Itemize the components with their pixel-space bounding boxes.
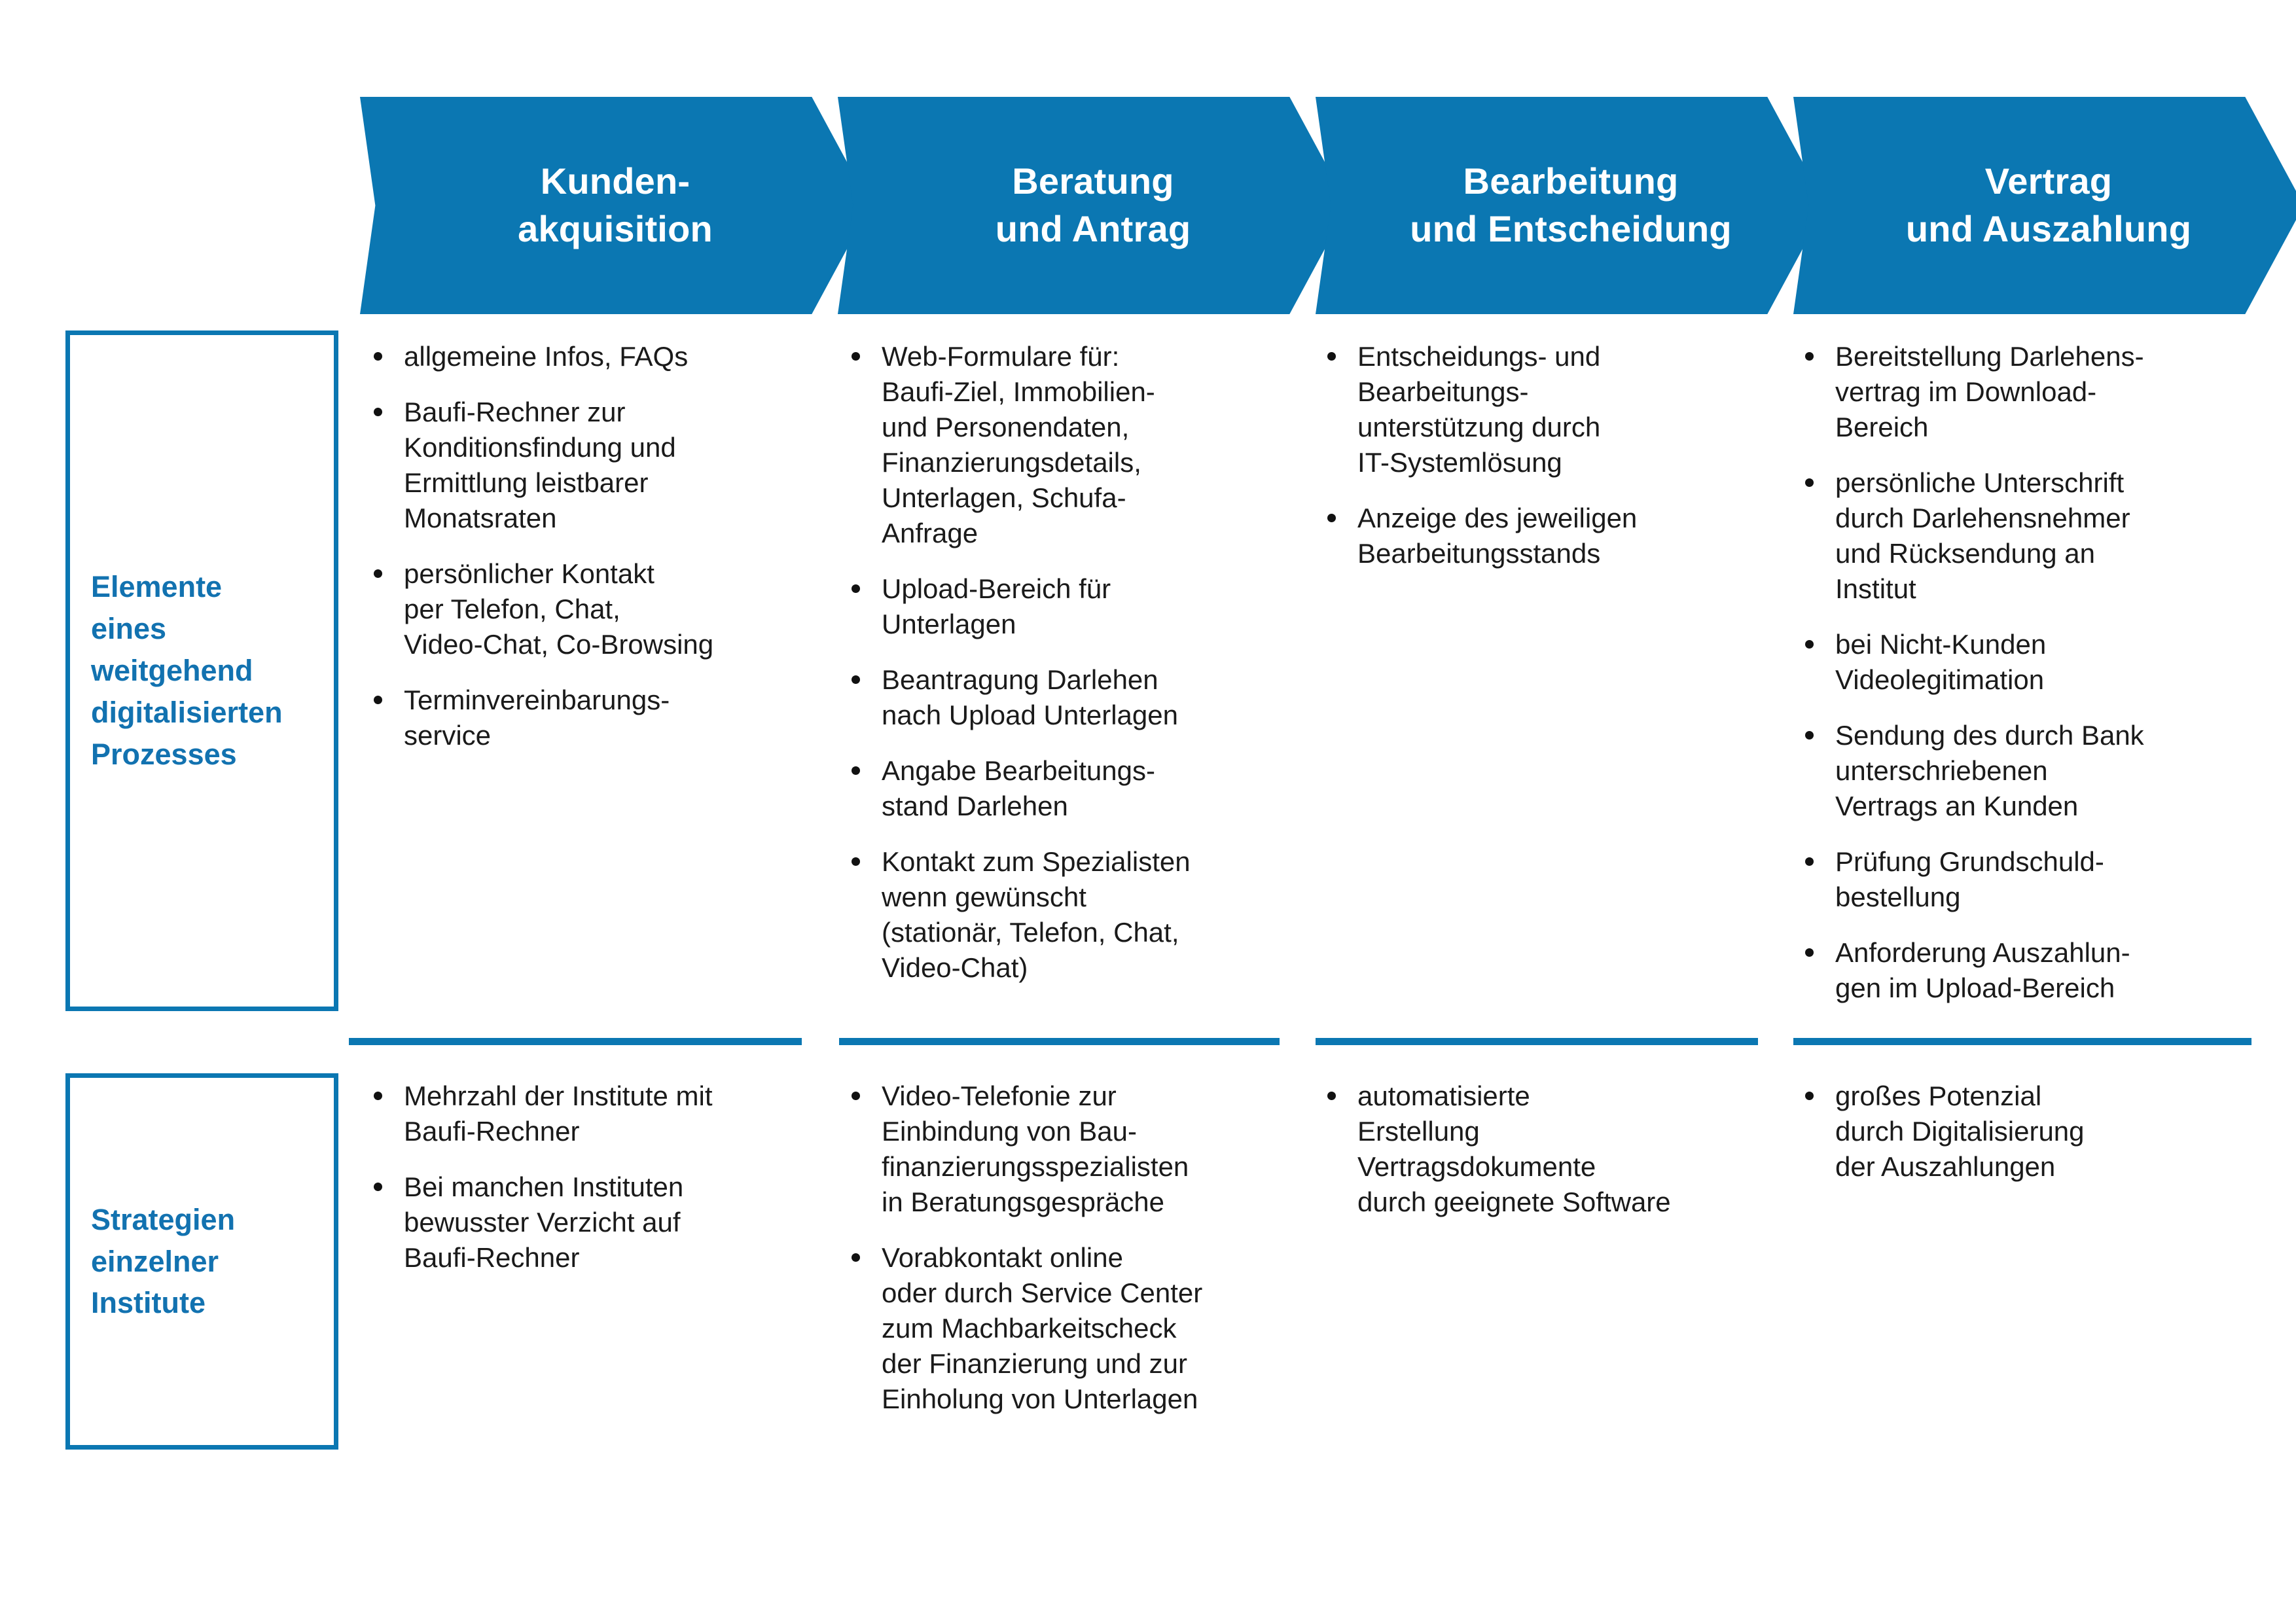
phase-chevron-kundenakquisition[interactable]: Kunden- akquisition — [360, 97, 870, 314]
row-label-box-strategien: Strategien einzelner Institute — [65, 1073, 338, 1450]
list-item: Sendung des durch Bank unterschriebenen … — [1795, 718, 2253, 824]
bullet-dot-icon — [1805, 640, 1814, 649]
bullet-dot-icon — [374, 408, 382, 416]
list-item-text: Anzeige des jeweiligen Bearbeitungsstand… — [1357, 503, 1637, 569]
bullet-dot-icon — [852, 675, 860, 684]
list-item-text: Prüfung Grundschuld- bestellung — [1835, 846, 2104, 912]
cell-strategien-kundenakquisition: Mehrzahl der Institute mit Baufi-Rechner… — [363, 1079, 803, 1275]
phase-chevron-label: Beratung und Antrag — [986, 158, 1200, 253]
list-item: persönliche Unterschrift durch Darlehens… — [1795, 465, 2253, 607]
column-divider-rule — [1793, 1038, 2251, 1045]
list-item-text: Anforderung Auszahlun- gen im Upload-Ber… — [1835, 937, 2130, 1003]
bullet-dot-icon — [1805, 1092, 1814, 1100]
list-item: Beantragung Darlehen nach Upload Unterla… — [841, 662, 1281, 733]
list-item-text: automatisierte Erstellung Vertragsdokume… — [1357, 1080, 1671, 1217]
bullet-dot-icon — [852, 1092, 860, 1100]
bullet-list: automatisierte Erstellung Vertragsdokume… — [1317, 1079, 1759, 1220]
list-item: Entscheidungs- und Bearbeitungs- unterst… — [1317, 339, 1759, 480]
bullet-list: allgemeine Infos, FAQs Baufi-Rechner zur… — [363, 339, 803, 753]
bullet-list: Entscheidungs- und Bearbeitungs- unterst… — [1317, 339, 1759, 571]
bullet-dot-icon — [1805, 731, 1814, 740]
list-item-text: persönlicher Kontakt per Telefon, Chat, … — [404, 558, 713, 660]
list-item: Angabe Bearbeitungs- stand Darlehen — [841, 753, 1281, 824]
bullet-list: Video-Telefonie zur Einbindung von Bau- … — [841, 1079, 1281, 1417]
list-item-text: allgemeine Infos, FAQs — [404, 341, 688, 372]
list-item: bei Nicht-Kunden Videolegitimation — [1795, 627, 2253, 698]
list-item-text: Mehrzahl der Institute mit Baufi-Rechner — [404, 1080, 713, 1147]
list-item: Terminvereinbarungs- service — [363, 683, 803, 753]
list-item-text: Entscheidungs- und Bearbeitungs- unterst… — [1357, 341, 1600, 478]
list-item-text: persönliche Unterschrift durch Darlehens… — [1835, 467, 2130, 604]
bullet-dot-icon — [852, 1253, 860, 1262]
row-label-text: Elemente eines weitgehend digitalisierte… — [70, 566, 289, 775]
list-item-text: bei Nicht-Kunden Videolegitimation — [1835, 629, 2046, 695]
bullet-dot-icon — [1805, 857, 1814, 866]
row-label-text: Strategien einzelner Institute — [70, 1199, 242, 1325]
bullet-list: Web-Formulare für: Baufi-Ziel, Immobilie… — [841, 339, 1281, 986]
list-item: Mehrzahl der Institute mit Baufi-Rechner — [363, 1079, 803, 1149]
bullet-dot-icon — [374, 696, 382, 704]
list-item-text: Sendung des durch Bank unterschriebenen … — [1835, 720, 2144, 821]
list-item-text: Angabe Bearbeitungs- stand Darlehen — [882, 755, 1155, 821]
bullet-dot-icon — [1805, 478, 1814, 487]
cell-strategien-bearbeitung: automatisierte Erstellung Vertragsdokume… — [1317, 1079, 1759, 1220]
bullet-dot-icon — [374, 569, 382, 578]
bullet-dot-icon — [852, 857, 860, 866]
list-item: persönlicher Kontakt per Telefon, Chat, … — [363, 556, 803, 662]
list-item: großes Potenzial durch Digitalisierung d… — [1795, 1079, 2253, 1185]
list-item: Prüfung Grundschuld- bestellung — [1795, 844, 2253, 915]
list-item-text: Bei manchen Instituten bewusster Verzich… — [404, 1171, 683, 1273]
list-item-text: Baufi-Rechner zur Konditionsfindung und … — [404, 397, 676, 533]
cell-strategien-beratung: Video-Telefonie zur Einbindung von Bau- … — [841, 1079, 1281, 1417]
list-item-text: Terminvereinbarungs- service — [404, 685, 670, 751]
list-item: Vorabkontakt online oder durch Service C… — [841, 1240, 1281, 1417]
list-item-text: großes Potenzial durch Digitalisierung d… — [1835, 1080, 2085, 1182]
list-item: Kontakt zum Spezialisten wenn gewünscht … — [841, 844, 1281, 986]
phase-chevron-label: Bearbeitung und Entscheidung — [1401, 158, 1741, 253]
cell-elemente-bearbeitung: Entscheidungs- und Bearbeitungs- unterst… — [1317, 339, 1759, 571]
cell-elemente-beratung: Web-Formulare für: Baufi-Ziel, Immobilie… — [841, 339, 1281, 986]
cell-elemente-vertrag: Bereitstellung Darlehens- vertrag im Dow… — [1795, 339, 2253, 1006]
phase-chevron-vertrag-und-auszahlung[interactable]: Vertrag und Auszahlung — [1793, 97, 2296, 314]
bullet-dot-icon — [852, 352, 860, 361]
list-item: automatisierte Erstellung Vertragsdokume… — [1317, 1079, 1759, 1220]
bullet-dot-icon — [1327, 1092, 1336, 1100]
phase-header-band: Kunden- akquisition Beratung und Antrag … — [0, 97, 2296, 314]
list-item-text: Web-Formulare für: Baufi-Ziel, Immobilie… — [882, 341, 1155, 548]
row-label-box-elemente: Elemente eines weitgehend digitalisierte… — [65, 330, 338, 1011]
cell-elemente-kundenakquisition: allgemeine Infos, FAQs Baufi-Rechner zur… — [363, 339, 803, 753]
bullet-dot-icon — [1805, 352, 1814, 361]
column-divider-rule — [1316, 1038, 1758, 1045]
bullet-list: Mehrzahl der Institute mit Baufi-Rechner… — [363, 1079, 803, 1275]
bullet-dot-icon — [374, 1183, 382, 1191]
phase-chevron-bearbeitung-und-entscheidung[interactable]: Bearbeitung und Entscheidung — [1316, 97, 1826, 314]
list-item: Baufi-Rechner zur Konditionsfindung und … — [363, 395, 803, 536]
list-item-text: Kontakt zum Spezialisten wenn gewünscht … — [882, 846, 1191, 983]
list-item: Anzeige des jeweiligen Bearbeitungsstand… — [1317, 501, 1759, 571]
bullet-dot-icon — [852, 766, 860, 775]
bullet-dot-icon — [1805, 948, 1814, 957]
bullet-list: großes Potenzial durch Digitalisierung d… — [1795, 1079, 2253, 1185]
phase-chevron-label: Kunden- akquisition — [509, 158, 722, 253]
bullet-dot-icon — [1327, 352, 1336, 361]
bullet-dot-icon — [374, 1092, 382, 1100]
bullet-dot-icon — [1327, 514, 1336, 522]
list-item-text: Vorabkontakt online oder durch Service C… — [882, 1242, 1202, 1414]
list-item: Anforderung Auszahlun- gen im Upload-Ber… — [1795, 935, 2253, 1006]
list-item: Bei manchen Instituten bewusster Verzich… — [363, 1169, 803, 1275]
phase-chevron-label: Vertrag und Auszahlung — [1897, 158, 2200, 253]
bullet-dot-icon — [374, 352, 382, 361]
list-item: Upload-Bereich für Unterlagen — [841, 571, 1281, 642]
list-item-text: Upload-Bereich für Unterlagen — [882, 573, 1111, 639]
list-item: allgemeine Infos, FAQs — [363, 339, 803, 374]
column-divider-rule — [349, 1038, 802, 1045]
list-item-text: Video-Telefonie zur Einbindung von Bau- … — [882, 1080, 1189, 1217]
column-divider-rule — [839, 1038, 1280, 1045]
list-item: Web-Formulare für: Baufi-Ziel, Immobilie… — [841, 339, 1281, 551]
bullet-dot-icon — [852, 584, 860, 593]
phase-chevron-beratung-und-antrag[interactable]: Beratung und Antrag — [838, 97, 1348, 314]
list-item: Video-Telefonie zur Einbindung von Bau- … — [841, 1079, 1281, 1220]
process-diagram: Kunden- akquisition Beratung und Antrag … — [0, 0, 2296, 1623]
list-item: Bereitstellung Darlehens- vertrag im Dow… — [1795, 339, 2253, 445]
cell-strategien-vertrag: großes Potenzial durch Digitalisierung d… — [1795, 1079, 2253, 1185]
list-item-text: Beantragung Darlehen nach Upload Unterla… — [882, 664, 1178, 730]
list-item-text: Bereitstellung Darlehens- vertrag im Dow… — [1835, 341, 2144, 442]
bullet-list: Bereitstellung Darlehens- vertrag im Dow… — [1795, 339, 2253, 1006]
